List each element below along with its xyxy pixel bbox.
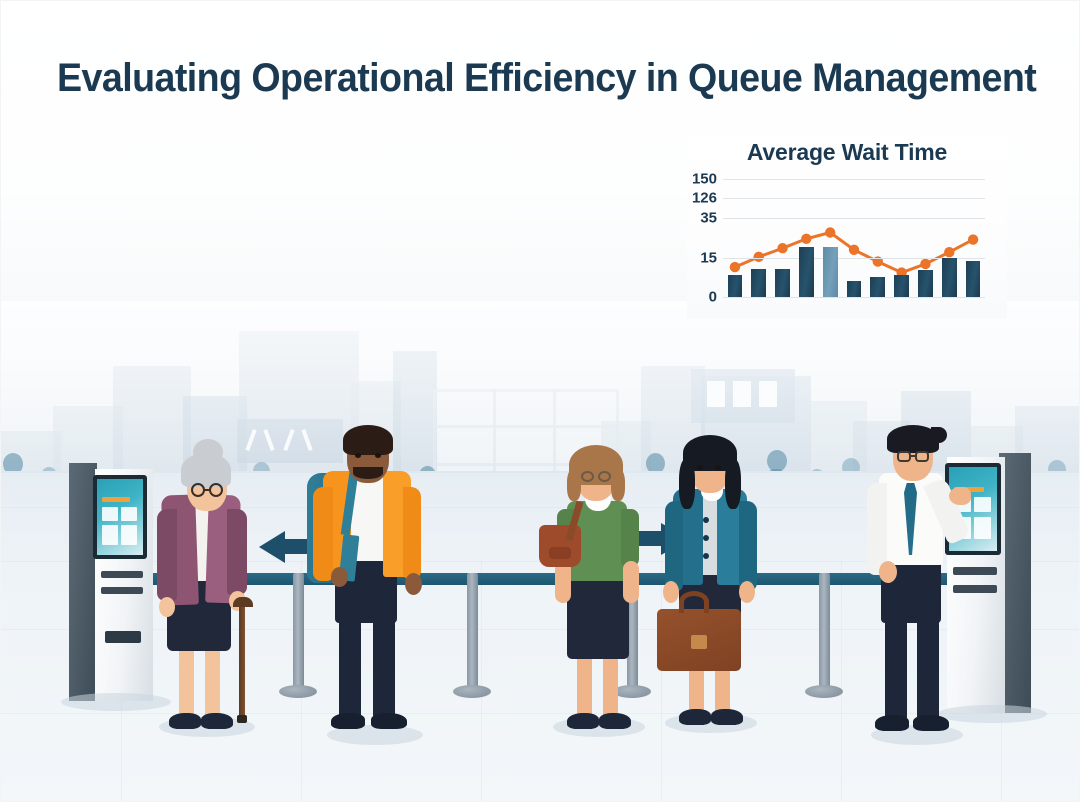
page-title: Evaluating Operational Efficiency in Que… (57, 56, 1036, 101)
chart-title: Average Wait Time (687, 139, 1007, 166)
chart-gridline (723, 179, 985, 180)
chart-line-marker (968, 234, 978, 244)
eyeglasses (598, 471, 611, 482)
chart-gridline (723, 218, 985, 219)
chart-bar (775, 269, 790, 297)
chart-bar (870, 277, 885, 297)
average-wait-time-chart: Average Wait Time 15012635150 (687, 135, 1007, 319)
chart-plot-area: 15012635150 (723, 179, 985, 297)
chart-y-tick: 126 (692, 189, 717, 206)
chart-line-marker (777, 243, 787, 253)
chart-y-tick: 0 (709, 289, 717, 306)
chart-bar (728, 275, 743, 297)
chart-bar (847, 281, 862, 297)
chart-gridline (723, 297, 985, 298)
chart-bar (942, 258, 957, 297)
chart-line-marker (801, 234, 811, 244)
chart-line-marker (920, 259, 930, 269)
chart-line-marker (730, 262, 740, 272)
chart-gridline (723, 198, 985, 199)
eyeglasses (915, 451, 929, 462)
chart-bar (751, 269, 766, 297)
chart-bar (894, 275, 909, 297)
eyeglasses (581, 471, 594, 482)
chart-bar (966, 261, 981, 297)
slide-canvas: Evaluating Operational Efficiency in Que… (0, 0, 1080, 802)
beard (353, 467, 383, 479)
walking-cane (239, 601, 245, 719)
screen-accent-bar (102, 497, 130, 502)
chart-line-marker (944, 247, 954, 257)
eyeglasses (209, 483, 223, 497)
chart-line-marker (825, 227, 835, 237)
eyeglasses (191, 483, 205, 497)
eyeglasses (897, 451, 911, 462)
chart-bar (799, 247, 814, 297)
chart-y-tick: 15 (700, 249, 717, 266)
chart-line-marker (849, 245, 859, 255)
chart-bar (918, 270, 933, 297)
queue-illustration (1, 1, 1080, 802)
chart-bar (823, 247, 838, 297)
chart-y-tick: 150 (692, 171, 717, 188)
chart-y-tick: 35 (700, 210, 717, 227)
pointing-hand (949, 487, 971, 505)
